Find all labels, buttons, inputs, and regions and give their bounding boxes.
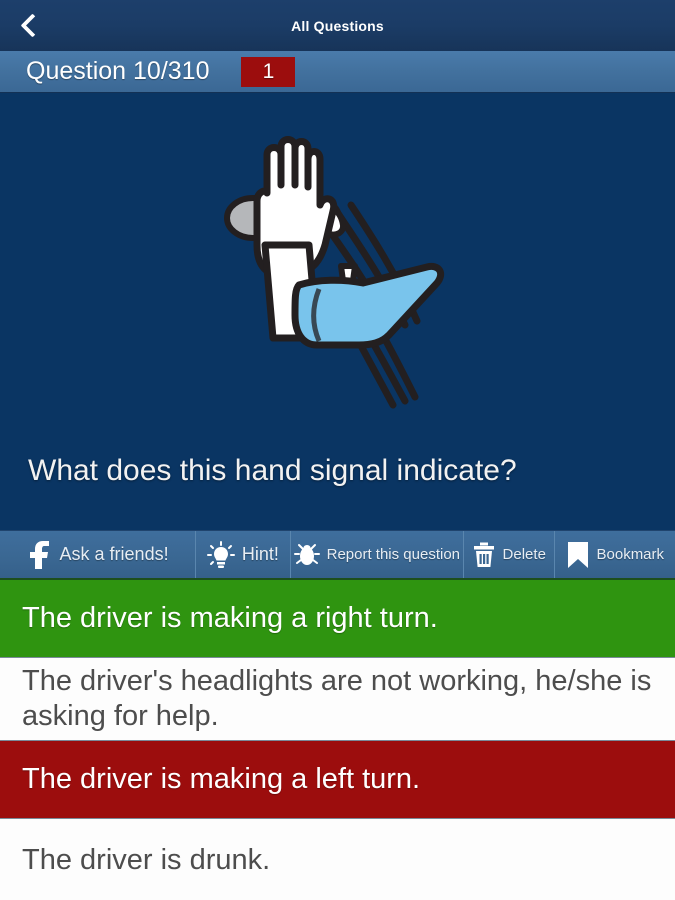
question-counter-bar: Question 10/310 1 (0, 51, 675, 93)
chevron-left-icon (20, 13, 44, 37)
lightbulb-icon (207, 541, 235, 569)
action-toolbar: Ask a friends! Hin (0, 530, 675, 580)
answer-text: The driver's headlights are not working,… (22, 664, 675, 735)
answer-option[interactable]: The driver is drunk. (0, 819, 675, 900)
page-title: All Questions (0, 18, 675, 34)
bookmark-label: Bookmark (597, 546, 665, 563)
trash-icon (472, 542, 496, 568)
hand-signal-illustration (213, 133, 463, 423)
bookmark-button[interactable]: Bookmark (555, 531, 675, 578)
answer-text: The driver is drunk. (22, 844, 270, 877)
quiz-screen: All Questions Question 10/310 1 (0, 0, 675, 900)
navigation-bar: All Questions (0, 0, 675, 51)
ask-a-friend-label: Ask a friends! (60, 544, 169, 565)
status-badge: 1 (241, 57, 295, 87)
bookmark-icon (566, 541, 590, 569)
facebook-icon (27, 541, 53, 569)
hint-button[interactable]: Hint! (196, 531, 291, 578)
bug-icon (294, 542, 320, 568)
question-counter-label: Question 10/310 (26, 57, 209, 86)
question-text: What does this hand signal indicate? (0, 454, 675, 530)
report-question-button[interactable]: Report this question (291, 531, 464, 578)
report-question-label: Report this question (327, 546, 460, 563)
answer-option-correct[interactable]: The driver is making a right turn. (0, 580, 675, 658)
back-button[interactable] (6, 0, 54, 51)
answer-option-selected-wrong[interactable]: The driver is making a left turn. (0, 741, 675, 819)
delete-label: Delete (503, 546, 546, 563)
answer-list: The driver is making a right turn. The d… (0, 580, 675, 900)
hint-label: Hint! (242, 544, 279, 565)
answer-text: The driver is making a left turn. (22, 763, 420, 796)
question-image (0, 93, 675, 454)
answer-text: The driver is making a right turn. (22, 602, 438, 635)
delete-button[interactable]: Delete (464, 531, 555, 578)
question-panel: What does this hand signal indicate? (0, 93, 675, 530)
answer-option[interactable]: The driver's headlights are not working,… (0, 658, 675, 741)
ask-a-friend-button[interactable]: Ask a friends! (0, 531, 196, 578)
